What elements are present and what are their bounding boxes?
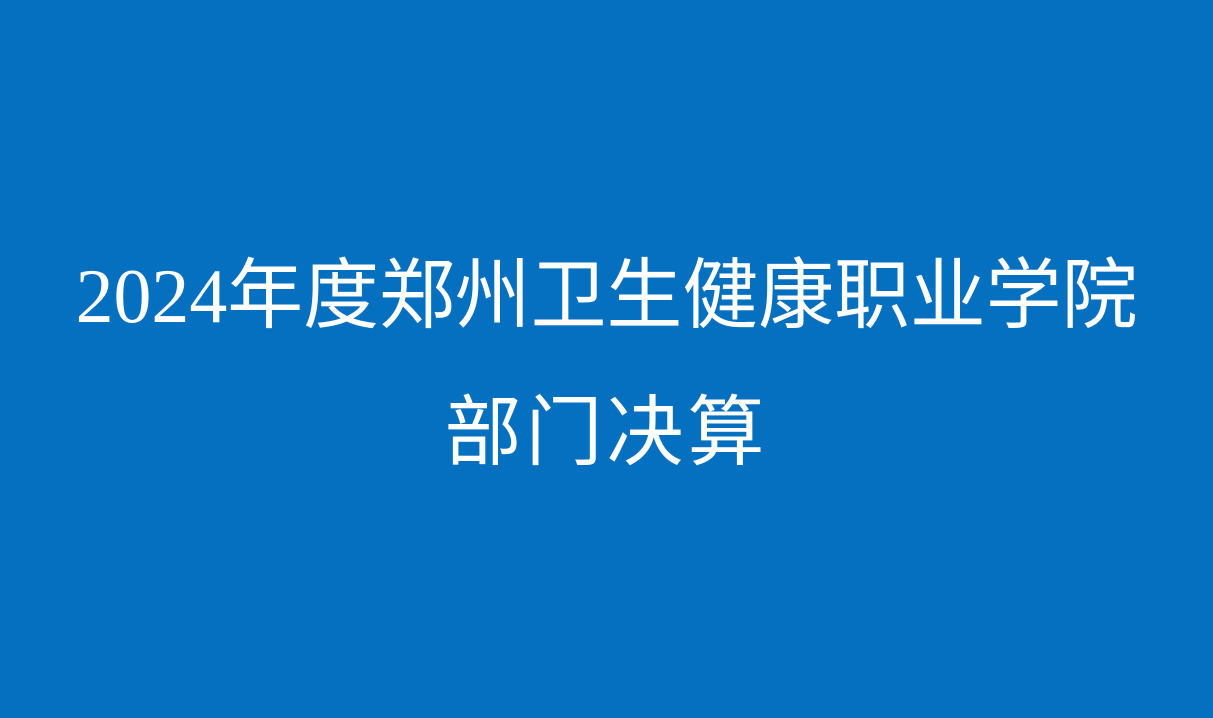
- page-title-line-2: 部门决算: [0, 395, 1213, 472]
- page-title-line-1: 2024年度郑州卫生健康职业学院: [9, 258, 1204, 335]
- cover-slide: 2024年度郑州卫生健康职业学院 部门决算: [0, 0, 1213, 718]
- title-block: 2024年度郑州卫生健康职业学院 部门决算: [0, 258, 1213, 472]
